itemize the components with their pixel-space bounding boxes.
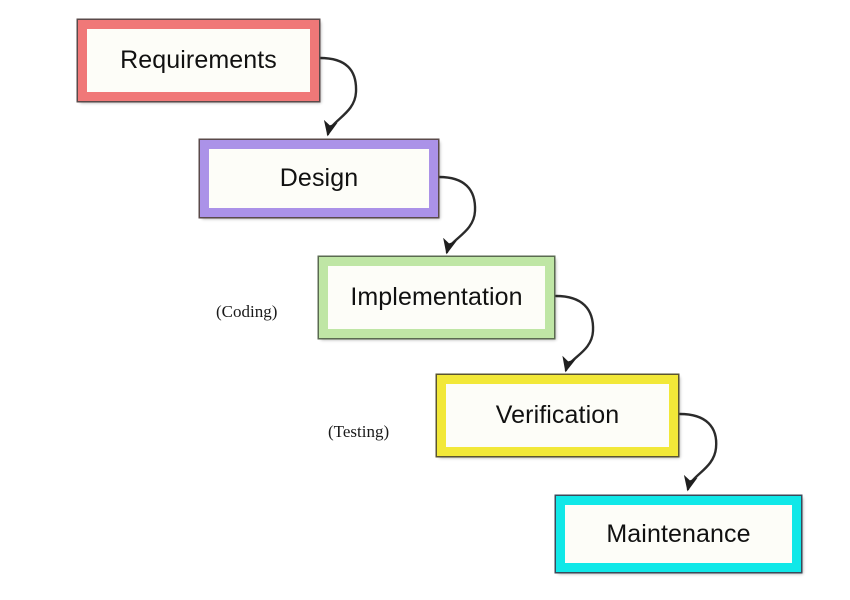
stage-box-design[interactable]: Design	[200, 140, 438, 217]
stage-label-design: Design	[280, 166, 358, 191]
connector-design-to-implementation	[439, 177, 475, 252]
stage-box-verification[interactable]: Verification	[437, 375, 678, 456]
diagram-canvas: Requirements Design Implementation Verif…	[0, 0, 850, 600]
connector-verification-to-maintenance	[680, 414, 716, 489]
stage-label-maintenance: Maintenance	[606, 522, 750, 547]
stage-label-verification: Verification	[496, 403, 620, 428]
annotation-testing: (Testing)	[328, 423, 389, 440]
stage-label-requirements: Requirements	[120, 48, 277, 73]
stage-box-requirements[interactable]: Requirements	[78, 20, 319, 101]
stage-box-implementation[interactable]: Implementation	[319, 257, 554, 338]
stage-box-maintenance[interactable]: Maintenance	[556, 496, 801, 572]
annotation-coding: (Coding)	[216, 303, 277, 320]
connector-requirements-to-design	[320, 58, 356, 134]
stage-label-implementation: Implementation	[350, 285, 522, 310]
connector-implementation-to-verification	[556, 296, 593, 370]
